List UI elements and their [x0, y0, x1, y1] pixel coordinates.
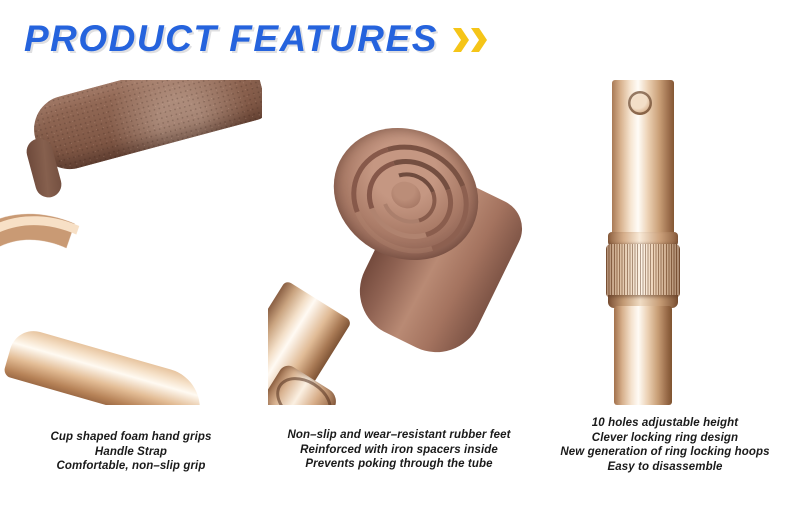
locking-ring-body [606, 244, 680, 298]
caption-line: Non–slip and wear–resistant rubber feet [268, 428, 530, 443]
feature-panel-grip [0, 80, 262, 405]
height-adjustment-hole [628, 91, 652, 115]
rubber-foot-photo [268, 80, 530, 405]
page-title: PRODUCT FEATURES [24, 20, 438, 57]
feature-caption-foot: Non–slip and wear–resistant rubber feet … [268, 428, 530, 472]
locking-ring-photo [540, 80, 790, 405]
caption-line: Reinforced with iron spacers inside [268, 443, 530, 458]
caption-line: Handle Strap [0, 445, 262, 460]
feature-panel-lock [540, 80, 790, 405]
feature-panel-foot [268, 80, 530, 405]
feature-caption-grip: Cup shaped foam hand grips Handle Strap … [0, 430, 262, 474]
caption-line: 10 holes adjustable height [540, 416, 790, 431]
foam-grip-body [26, 80, 262, 177]
page-header: PRODUCT FEATURES [0, 0, 790, 80]
caption-line: Clever locking ring design [540, 431, 790, 446]
caption-line: Easy to disassemble [540, 460, 790, 475]
caption-line: Prevents poking through the tube [268, 457, 530, 472]
caption-line: Cup shaped foam hand grips [0, 430, 262, 445]
foam-hand-grip-photo [0, 80, 262, 405]
foam-grip-texture [26, 80, 262, 177]
locking-ring-knurling [606, 244, 680, 298]
telescoping-tube-lower [614, 306, 672, 405]
caption-line: Comfortable, non–slip grip [0, 459, 262, 474]
title-row: PRODUCT FEATURES [24, 20, 487, 57]
caption-line: New generation of ring locking hoops [540, 445, 790, 460]
double-chevron-right-icon [452, 27, 487, 53]
feature-caption-lock: 10 holes adjustable height Clever lockin… [540, 416, 790, 474]
